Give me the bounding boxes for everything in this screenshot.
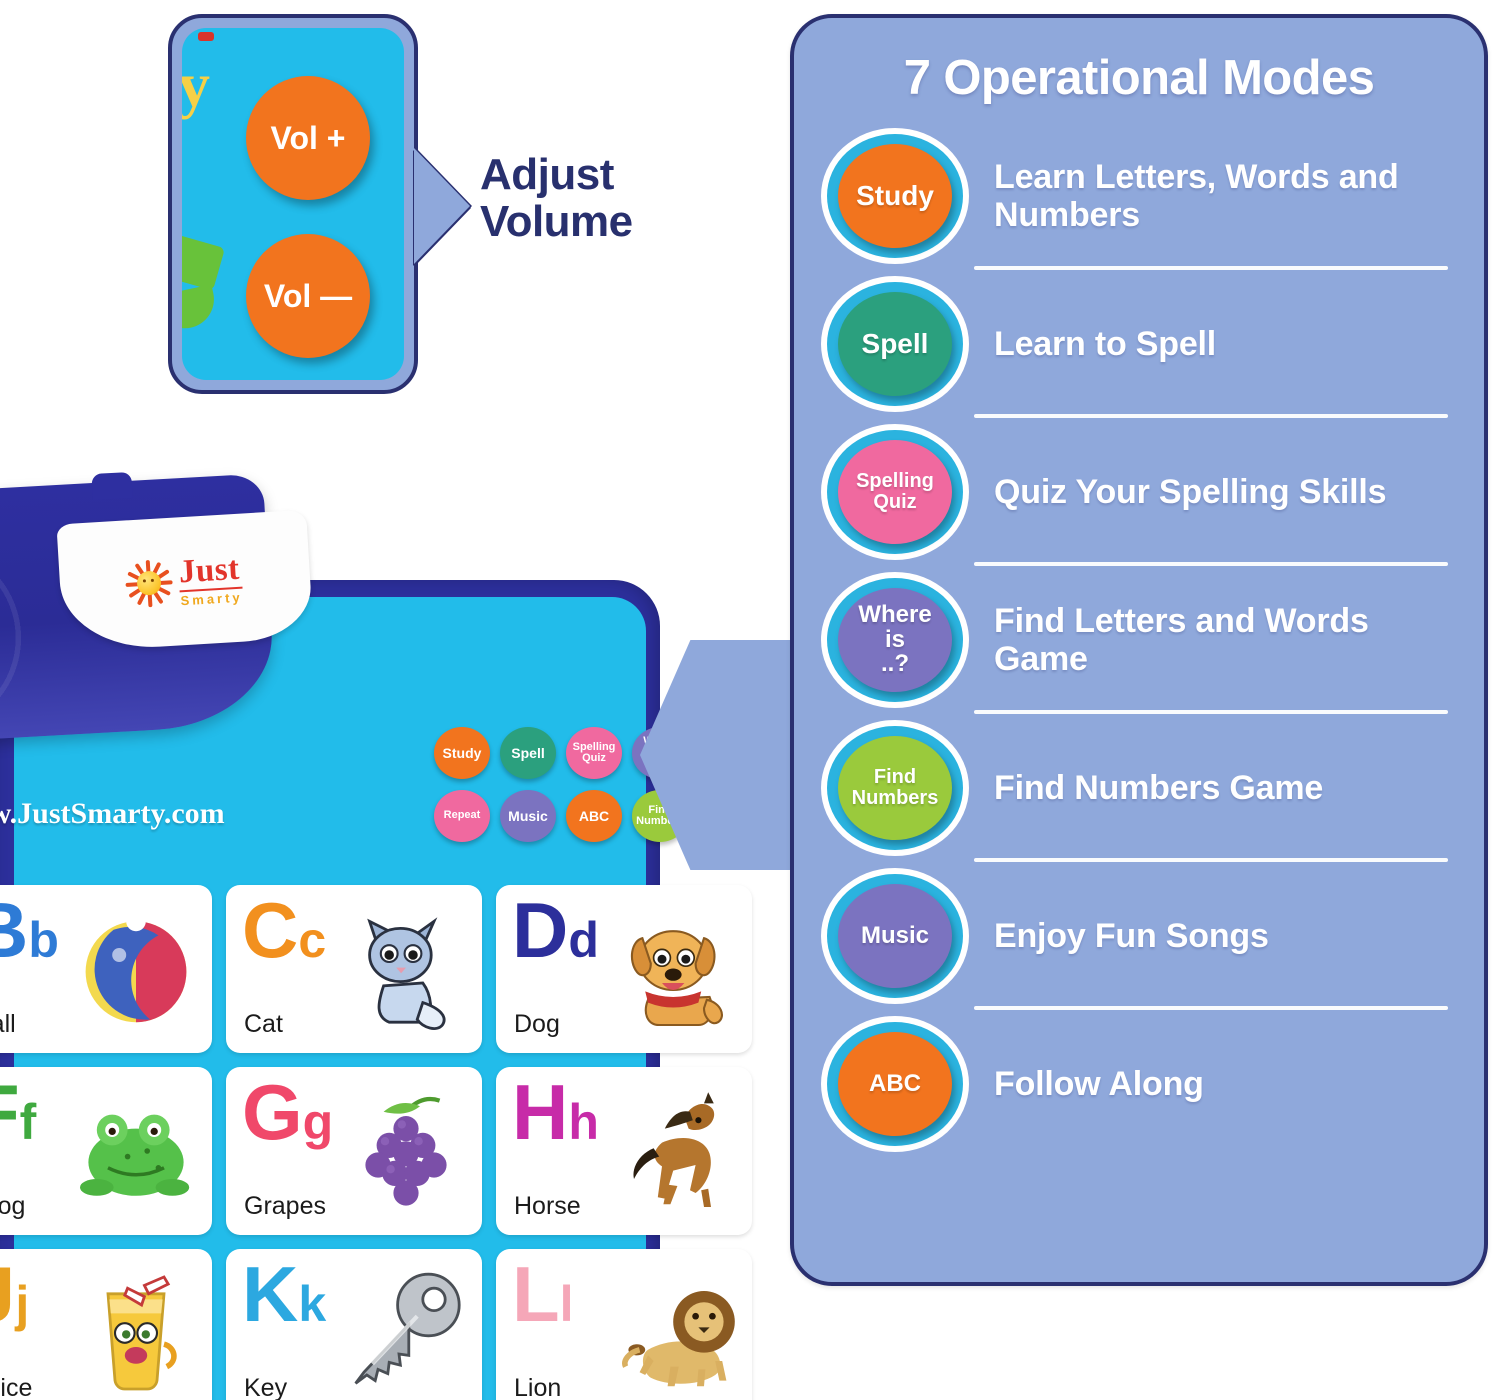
panel-title: 7 Operational Modes	[794, 50, 1484, 106]
key-illustration	[336, 1263, 476, 1400]
card-letter-pair: Ll	[512, 1255, 574, 1333]
badge-label: Study	[838, 144, 952, 248]
card-word-label: Grapes	[244, 1192, 326, 1221]
alphabet-card-row: JjJuiceKkKeyLlLion	[0, 1249, 706, 1400]
mode-description: Learn to Spell	[972, 325, 1484, 363]
product-marketing-image: ww.JustSmarty.com StudySpellSpellingQuiz…	[0, 0, 1500, 1400]
product-button-repeat[interactable]: Repeat	[434, 790, 490, 842]
mode-row: SpellLearn to Spell	[794, 270, 1484, 418]
card-word-label: Dog	[514, 1010, 560, 1039]
decor-yellow-letter: y	[182, 48, 210, 122]
alphabet-card-b[interactable]: BbBall	[0, 885, 212, 1053]
card-letter-pair: Jj	[0, 1255, 29, 1333]
alphabet-card-k[interactable]: KkKey	[226, 1249, 482, 1400]
card-word-label: Ball	[0, 1010, 16, 1039]
card-letter-pair: Kk	[242, 1255, 326, 1333]
volume-down-button[interactable]: Vol —	[246, 234, 370, 358]
card-word-label: Frog	[0, 1192, 25, 1221]
volume-callout: y Vol + Vol —	[168, 14, 418, 394]
badge-label: FindNumbers	[838, 736, 952, 840]
brand-wordmark: Just Smarty	[178, 552, 243, 607]
mode-row: FindNumbersFind Numbers Game	[794, 714, 1484, 862]
volume-up-button[interactable]: Vol +	[246, 76, 370, 200]
alphabet-card-row: BbBallCcCatDdDog	[0, 885, 706, 1053]
alphabet-card-c[interactable]: CcCat	[226, 885, 482, 1053]
brand-logo-plate: Just Smarty	[56, 510, 313, 653]
lion-illustration	[606, 1263, 746, 1400]
mode-badge-abc[interactable]: ABC	[818, 1014, 972, 1154]
alphabet-card-f[interactable]: FfFrog	[0, 1067, 212, 1235]
alphabet-card-grid: BbBallCcCatDdDogFfFrogGgGrapesHhHorseJjJ…	[0, 885, 706, 1400]
dog-illustration	[606, 899, 746, 1039]
mode-badge-music[interactable]: Music	[818, 866, 972, 1006]
alphabet-card-l[interactable]: LlLion	[496, 1249, 752, 1400]
mode-badge-find-numbers[interactable]: FindNumbers	[818, 718, 972, 858]
product-button-label: Repeat	[442, 810, 483, 821]
alphabet-card-g[interactable]: GgGrapes	[226, 1067, 482, 1235]
brand-name-primary: Just	[178, 552, 242, 589]
grapes-illustration	[336, 1081, 476, 1221]
alphabet-card-j[interactable]: JjJuice	[0, 1249, 212, 1400]
alphabet-card-h[interactable]: HhHorse	[496, 1067, 752, 1235]
product-button-label: SpellingQuiz	[571, 742, 618, 764]
product-button-label: ABC	[577, 809, 611, 823]
operational-modes-panel: 7 Operational Modes StudyLearn Letters, …	[790, 14, 1488, 1286]
volume-callout-surface: y Vol + Vol —	[182, 28, 404, 380]
mode-badge-study[interactable]: Study	[818, 126, 972, 266]
product-button-study[interactable]: Study	[434, 727, 490, 779]
product-button-label: Music	[506, 809, 550, 823]
horse-illustration	[606, 1081, 746, 1221]
mode-description: Enjoy Fun Songs	[972, 917, 1484, 955]
card-letter-pair: Bb	[0, 891, 59, 969]
product-button-abc[interactable]: ABC	[566, 790, 622, 842]
product-button-label: Spell	[509, 746, 546, 760]
beach-ball-illustration	[66, 899, 206, 1039]
card-word-label: Horse	[514, 1192, 581, 1221]
product-button-music[interactable]: Music	[500, 790, 556, 842]
card-letter-pair: Ff	[0, 1073, 36, 1151]
mode-row: SpellingQuizQuiz Your Spelling Skills	[794, 418, 1484, 566]
mode-badge-where-is[interactable]: Whereis..?	[818, 570, 972, 710]
frog-illustration	[66, 1081, 206, 1221]
card-letter-pair: Dd	[512, 891, 599, 969]
badge-label: Music	[838, 884, 952, 988]
decor-green-scrap-2	[182, 284, 219, 333]
badge-label: SpellingQuiz	[838, 440, 952, 544]
brand-name-secondary: Smarty	[180, 590, 243, 607]
badge-label: Whereis..?	[838, 588, 952, 692]
decor-green-scrap-1	[182, 233, 225, 290]
mode-row: StudyLearn Letters, Words and Numbers	[794, 122, 1484, 270]
product-button-spell[interactable]: Spell	[500, 727, 556, 779]
cat-illustration	[336, 899, 476, 1039]
mode-badge-spell[interactable]: Spell	[818, 274, 972, 414]
sun-icon	[127, 561, 171, 605]
card-word-label: Key	[244, 1374, 287, 1400]
volume-callout-pointer	[414, 148, 470, 264]
decor-red-scrap	[198, 32, 214, 41]
mode-description: Follow Along	[972, 1065, 1484, 1103]
badge-label: Spell	[838, 292, 952, 396]
mode-badge-spelling-quiz[interactable]: SpellingQuiz	[818, 422, 972, 562]
card-letter-pair: Gg	[242, 1073, 333, 1151]
card-word-label: Lion	[514, 1374, 561, 1400]
mode-description: Find Numbers Game	[972, 769, 1484, 807]
device-hanging-nub	[91, 472, 132, 500]
mode-list: StudyLearn Letters, Words and NumbersSpe…	[794, 122, 1484, 1158]
alphabet-card-d[interactable]: DdDog	[496, 885, 752, 1053]
volume-callout-label: Adjust Volume	[480, 152, 710, 245]
mode-row: Whereis..?Find Letters and Words Game	[794, 566, 1484, 714]
alphabet-card-row: FfFrogGgGrapesHhHorse	[0, 1067, 706, 1235]
card-word-label: Cat	[244, 1010, 283, 1039]
mode-description: Find Letters and Words Game	[972, 602, 1484, 678]
product-photo: ww.JustSmarty.com StudySpellSpellingQuiz…	[0, 565, 720, 1400]
mode-row: ABCFollow Along	[794, 1010, 1484, 1158]
card-letter-pair: Cc	[242, 891, 326, 969]
card-letter-pair: Hh	[512, 1073, 599, 1151]
badge-label: ABC	[838, 1032, 952, 1136]
website-url: ww.JustSmarty.com	[0, 797, 225, 831]
card-word-label: Juice	[0, 1374, 32, 1400]
mode-row: MusicEnjoy Fun Songs	[794, 862, 1484, 1010]
juice-illustration	[66, 1263, 206, 1400]
product-button-label: Study	[441, 746, 484, 760]
mode-description: Quiz Your Spelling Skills	[972, 473, 1484, 511]
product-button-spelling-quiz[interactable]: SpellingQuiz	[566, 727, 622, 779]
mode-description: Learn Letters, Words and Numbers	[972, 158, 1484, 234]
